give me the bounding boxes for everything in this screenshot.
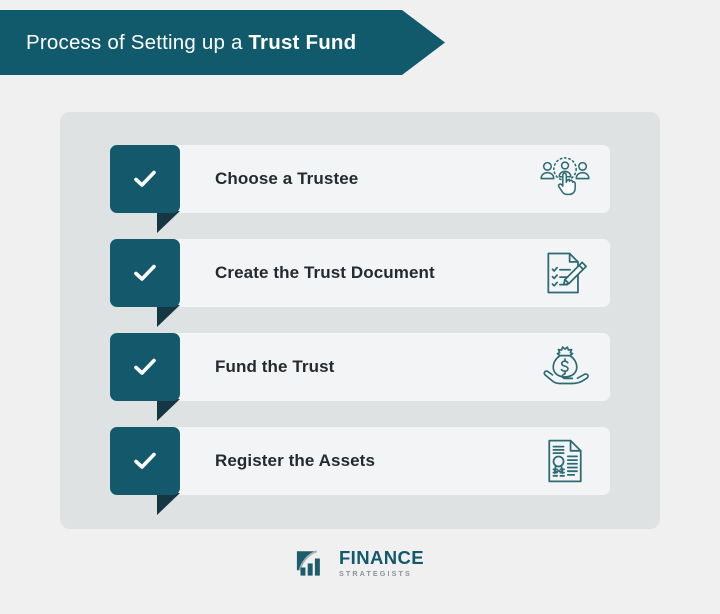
hand-money-bag-icon [538, 340, 592, 394]
list-item[interactable]: Fund the Trust [110, 333, 610, 401]
page-title-regular: Process of Setting up a [26, 31, 248, 54]
badge-tail-shape [157, 493, 180, 515]
step-check-badge [110, 427, 180, 495]
check-mark-icon [132, 166, 158, 192]
badge-tail-shape [157, 211, 180, 233]
step-card[interactable]: Register the Assets [165, 427, 610, 495]
step-check-badge [110, 333, 180, 401]
brand-name: FINANCE [339, 549, 424, 568]
select-person-group-icon [538, 152, 592, 206]
brand-logo-text: FINANCE STRATEGISTS [339, 549, 424, 578]
step-check-badge [110, 145, 180, 213]
step-card[interactable]: Create the Trust Document [165, 239, 610, 307]
badge-box [110, 145, 180, 213]
badge-box [110, 427, 180, 495]
badge-box [110, 333, 180, 401]
step-label: Create the Trust Document [165, 263, 435, 283]
check-mark-icon [132, 448, 158, 474]
page-title-bold: Trust Fund [248, 31, 356, 54]
page-title: Process of Setting up a Trust Fund [0, 31, 356, 55]
step-card[interactable]: Choose a Trustee [165, 145, 610, 213]
badge-box [110, 239, 180, 307]
list-item[interactable]: Create the Trust Document [110, 239, 610, 307]
certificate-seal-document-icon [538, 434, 592, 488]
step-label: Register the Assets [165, 451, 375, 471]
brand-logo: FINANCE STRATEGISTS [0, 548, 720, 578]
step-label: Fund the Trust [165, 357, 334, 377]
check-mark-icon [132, 260, 158, 286]
check-mark-icon [132, 354, 158, 380]
brand-tagline: STRATEGISTS [339, 570, 424, 577]
list-item[interactable]: Register the Assets [110, 427, 610, 495]
document-checklist-pencil-icon [538, 246, 592, 300]
badge-tail-shape [157, 305, 180, 327]
header-banner: Process of Setting up a Trust Fund [0, 10, 460, 75]
step-check-badge [110, 239, 180, 307]
badge-tail-shape [157, 399, 180, 421]
list-item[interactable]: Choose a Trustee [110, 145, 610, 213]
bar-chart-swoosh-logo-icon [296, 548, 332, 578]
steps-list: Choose a Trustee [110, 145, 610, 495]
step-card[interactable]: Fund the Trust [165, 333, 610, 401]
step-label: Choose a Trustee [165, 169, 358, 189]
